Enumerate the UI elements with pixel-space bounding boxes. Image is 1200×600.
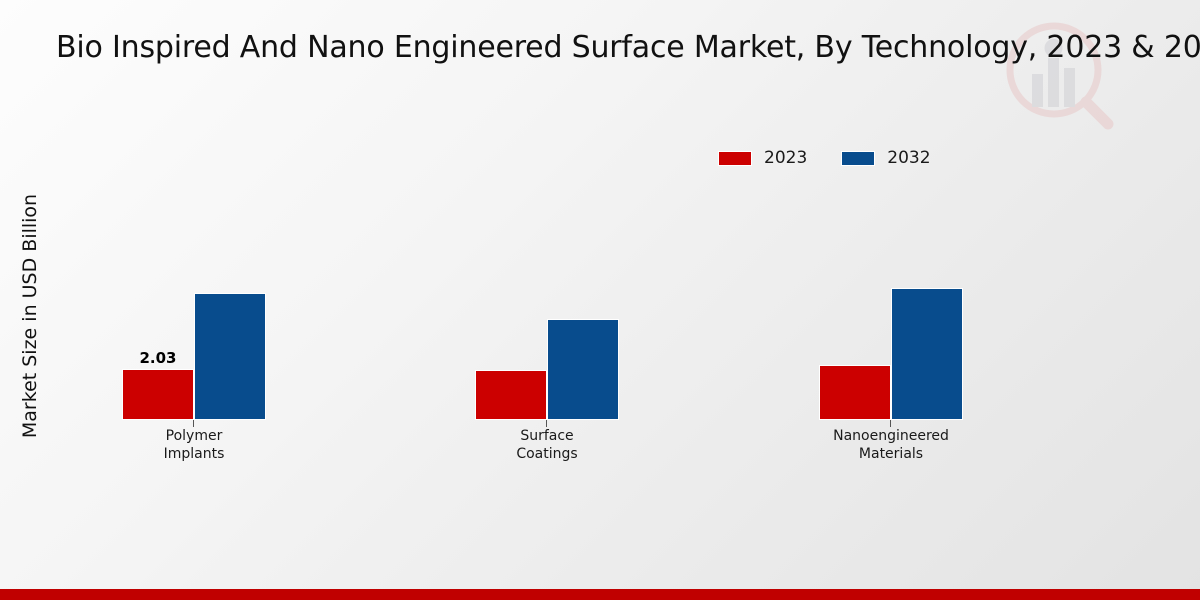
x-label-line-1: Nanoengineered	[769, 428, 1013, 446]
x-label-line-1: Surface	[425, 428, 669, 446]
x-label-line-1: Polymer	[72, 428, 316, 446]
legend-item-2023[interactable]: 2023	[718, 148, 807, 168]
legend-swatch-2032	[841, 151, 875, 166]
x-label-line-2: Materials	[769, 446, 1013, 464]
x-tick-polymer-implants	[193, 420, 194, 427]
legend-item-2032[interactable]: 2032	[841, 148, 930, 168]
x-label-nanoengineered-materials: Nanoengineered Materials	[769, 428, 1013, 463]
chart-title: Bio Inspired And Nano Engineered Surface…	[56, 30, 1200, 65]
chart-legend: 2023 2032	[718, 148, 931, 168]
bar-2032-polymer-implants[interactable]	[194, 293, 266, 420]
legend-label-2032: 2032	[887, 148, 930, 168]
bar-2023-nanoengineered-materials[interactable]	[819, 365, 891, 420]
legend-label-2023: 2023	[764, 148, 807, 168]
bar-2023-polymer-implants[interactable]	[122, 369, 194, 420]
footer-accent-bar	[0, 589, 1200, 600]
bar-2023-surface-coatings[interactable]	[475, 370, 547, 420]
x-label-polymer-implants: Polymer Implants	[72, 428, 316, 463]
plot-area: 2.03 Polymer Implants Surface Coatings N	[72, 170, 1180, 420]
x-tick-nanoengineered-materials	[890, 420, 891, 427]
bar-2032-nanoengineered-materials[interactable]	[891, 288, 963, 420]
chart-container: Bio Inspired And Nano Engineered Surface…	[0, 0, 1200, 600]
x-label-line-2: Implants	[72, 446, 316, 464]
y-axis-title: Market Size in USD Billion	[19, 136, 41, 496]
bar-2032-surface-coatings[interactable]	[547, 319, 619, 420]
x-label-surface-coatings: Surface Coatings	[425, 428, 669, 463]
x-tick-surface-coatings	[546, 420, 547, 427]
x-label-line-2: Coatings	[425, 446, 669, 464]
legend-swatch-2023	[718, 151, 752, 166]
bar-value-2023-polymer-implants: 2.03	[122, 349, 194, 367]
